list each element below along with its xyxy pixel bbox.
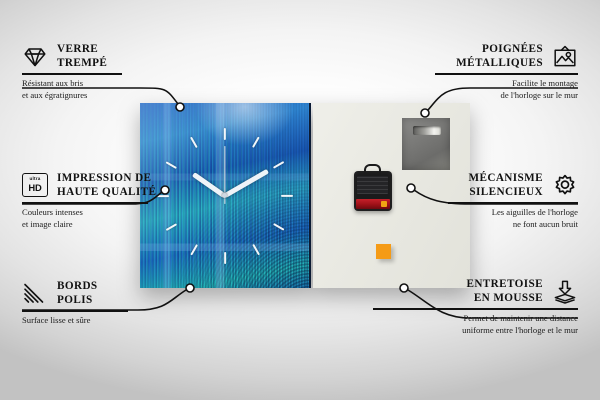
feature-impression-haute-qualite[interactable]: ultra HD IMPRESSION DE HAUTE QUALITÉ Cou… — [22, 172, 227, 230]
feature-description: Les aiguilles de l'horloge ne font aucun… — [373, 207, 578, 230]
hanger-slot — [413, 126, 441, 135]
clock-tick — [223, 128, 225, 140]
title-underline — [435, 73, 578, 75]
title-underline — [22, 202, 148, 204]
arrow-down-foam-icon — [552, 279, 578, 305]
feature-description: Facilite le montage de l'horloge sur le … — [373, 78, 578, 101]
clock-tick — [252, 136, 260, 148]
feature-title: POIGNÉES MÉTALLIQUES — [456, 43, 543, 70]
hd-main-label: HD — [28, 183, 41, 192]
gear-icon — [552, 173, 578, 199]
title-underline — [448, 202, 578, 204]
feature-title: VERRE TREMPÉ — [57, 43, 107, 70]
diagonal-stripes-icon — [22, 281, 48, 307]
clock-tick — [281, 194, 293, 196]
feature-description: Couleurs intenses et image claire — [22, 207, 227, 230]
feature-poignees-metalliques[interactable]: POIGNÉES MÉTALLIQUES Facilite le montage… — [373, 43, 578, 101]
feature-title: BORDS POLIS — [57, 280, 98, 307]
ultra-hd-icon: ultra HD — [22, 173, 48, 199]
clock-minute-hand — [223, 168, 269, 197]
framed-picture-icon — [552, 44, 578, 70]
clock-tick — [272, 161, 284, 169]
clock-tick — [223, 252, 225, 264]
feature-title: ENTRETOISE EN MOUSSE — [466, 278, 543, 305]
feature-title: IMPRESSION DE HAUTE QUALITÉ — [57, 172, 156, 199]
clock-tick — [165, 161, 177, 169]
clock-tick — [190, 243, 198, 255]
feature-mecanisme-silencieux[interactable]: MÉCANISME SILENCIEUX Les aiguilles de l'… — [373, 172, 578, 230]
metal-hanger-plate — [402, 118, 450, 170]
clock-tick — [190, 136, 198, 148]
clock-tick — [272, 223, 284, 231]
foam-spacer — [376, 244, 391, 259]
feature-entretoise-en-mousse[interactable]: ENTRETOISE EN MOUSSE Permet de maintenir… — [373, 278, 578, 336]
diamond-icon — [22, 44, 48, 70]
infographic-canvas: VERRE TREMPÉ Résistant aux bris et aux é… — [0, 0, 600, 400]
feature-title: MÉCANISME SILENCIEUX — [469, 172, 543, 199]
title-underline — [22, 310, 128, 312]
feature-verre-trempe[interactable]: VERRE TREMPÉ Résistant aux bris et aux é… — [22, 43, 227, 101]
feature-description: Permet de maintenir une distance uniform… — [373, 313, 578, 336]
feature-bords-polis[interactable]: BORDS POLIS Surface lisse et sûre — [22, 280, 227, 327]
title-underline — [22, 73, 122, 75]
title-underline — [373, 308, 578, 310]
feature-description: Résistant aux bris et aux égratignures — [22, 78, 227, 101]
clock-tick — [252, 243, 260, 255]
feature-description: Surface lisse et sûre — [22, 315, 227, 327]
